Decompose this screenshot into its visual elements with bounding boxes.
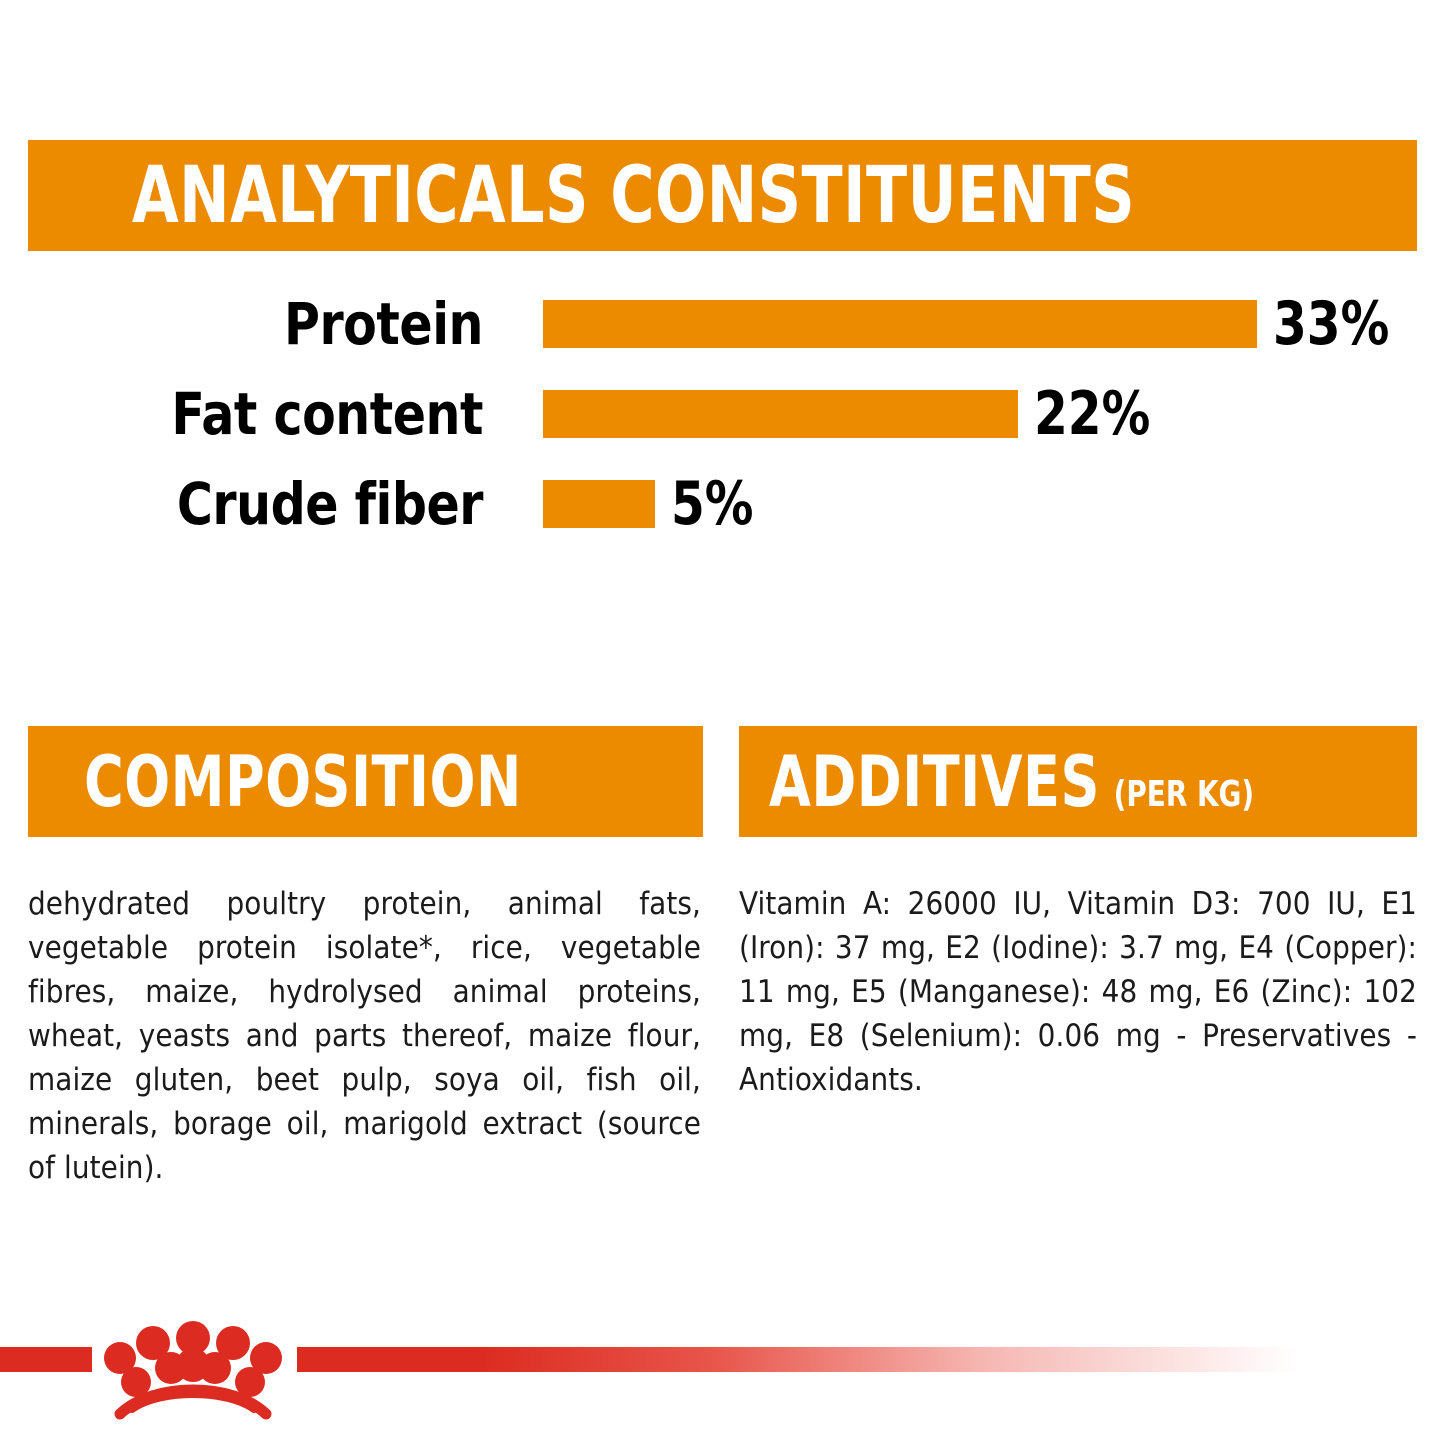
nutrition-fact-panel: ANALYTICALS CONSTITUENTS Protein 33% Fat… [0, 0, 1445, 1445]
footer [0, 1300, 1445, 1445]
additives-title: ADDITIVES [769, 747, 1100, 817]
analyticals-constituents-banner: ANALYTICALS CONSTITUENTS [28, 140, 1417, 251]
chart-row-crude-fiber: Crude fiber 5% [0, 470, 1445, 538]
chart-label-fat-content: Fat content [29, 385, 483, 443]
chart-label-protein: Protein [29, 295, 483, 353]
chart-value-protein: 33% [1273, 294, 1389, 354]
chart-row-protein: Protein 33% [0, 290, 1445, 358]
footer-rule-left [0, 1347, 92, 1372]
royal-canin-crown-icon [98, 1310, 288, 1420]
chart-row-fat-content: Fat content 22% [0, 380, 1445, 448]
chart-value-crude-fiber: 5% [671, 474, 753, 534]
analyticals-bar-chart: Protein 33% Fat content 22% Crude fiber … [0, 290, 1445, 540]
additives-title-group: ADDITIVES (per kg) [769, 747, 1254, 817]
composition-title: COMPOSITION [84, 747, 522, 817]
chart-value-fat-content: 22% [1034, 384, 1150, 444]
analyticals-constituents-title: ANALYTICALS CONSTITUENTS [132, 157, 1135, 235]
chart-bar-group-protein: 33% [543, 294, 1402, 354]
chart-bar-group-fat-content: 22% [543, 384, 1163, 444]
additives-list-text: Vitamin A: 26000 IU, Vitamin D3: 700 IU,… [739, 882, 1417, 1102]
composition-ingredients-text: dehydrated poultry protein, animal fats,… [28, 882, 701, 1190]
chart-bar-crude-fiber [543, 480, 655, 528]
chart-bar-group-crude-fiber: 5% [543, 474, 763, 534]
additives-per-kg-label: (per kg) [1114, 777, 1254, 813]
footer-rule-right [297, 1347, 1297, 1372]
chart-bar-fat-content [543, 390, 1018, 438]
chart-bar-protein [543, 300, 1257, 348]
additives-banner: ADDITIVES (per kg) [739, 726, 1417, 837]
composition-banner: COMPOSITION [28, 726, 703, 837]
chart-label-crude-fiber: Crude fiber [29, 475, 483, 533]
